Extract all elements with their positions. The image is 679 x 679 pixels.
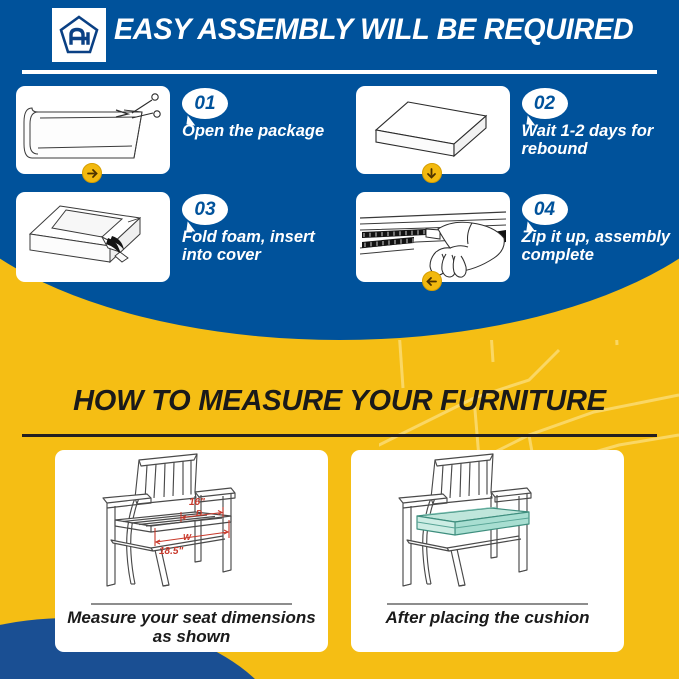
header-divider	[22, 70, 657, 74]
step-03-badge: 03	[182, 194, 228, 225]
step-02-badge: 02	[522, 88, 568, 119]
step-04-label: Zip it up, assembly complete	[522, 229, 679, 265]
card-2-caption: After placing the cushion	[351, 608, 624, 627]
step-04: 04 Zip it up, assembly complete	[340, 192, 679, 282]
step-02-label: Wait 1-2 days for rebound	[522, 123, 679, 159]
brand-logo	[52, 8, 106, 62]
step-01-arrow-chip	[82, 163, 102, 183]
step-02-text: 02 Wait 1-2 days for rebound	[510, 86, 679, 159]
flat-foam-slab-icon	[356, 86, 510, 174]
card-1-caption: Measure your seat dimensions as shown	[55, 608, 328, 646]
arrow-left-icon	[426, 276, 437, 287]
step-04-figure	[356, 192, 510, 282]
step-04-badge: 04	[522, 194, 568, 225]
step-02-figure	[356, 86, 510, 174]
arrow-right-icon	[87, 168, 98, 179]
header: EASY ASSEMBLY WILL BE REQUIRED	[0, 0, 679, 80]
step-01: 01 Open the package	[0, 86, 340, 174]
step-01-text: 01 Open the package	[170, 86, 324, 141]
step-row-bottom: 03 Fold foam, insert into cover	[0, 192, 679, 300]
step-02: 02 Wait 1-2 days for rebound	[340, 86, 679, 174]
page-title: EASY ASSEMBLY WILL BE REQUIRED	[114, 13, 633, 47]
depth-dimension-value: 16"	[189, 497, 205, 508]
width-dimension-value: 18.5"	[159, 546, 183, 557]
depth-axis-label: D	[196, 508, 202, 518]
step-03-label: Fold foam, insert into cover	[182, 229, 340, 265]
assembly-steps: 01 Open the package	[0, 86, 679, 300]
card-1-separator	[91, 603, 292, 605]
patio-chair-with-cushion-icon	[351, 450, 624, 602]
step-01-label: Open the package	[182, 123, 324, 141]
measure-cards: 16" D W 18.5" Measure your seat dimensio…	[0, 450, 679, 652]
measure-card-dimensions: 16" D W 18.5" Measure your seat dimensio…	[55, 450, 328, 652]
step-04-arrow-chip	[422, 271, 442, 291]
patio-chair-with-dimensions-icon: 16" D W 18.5"	[55, 450, 328, 602]
measure-section-title: HOW TO MEASURE YOUR FURNITURE	[0, 385, 679, 418]
measure-card-with-cushion: After placing the cushion	[351, 450, 624, 652]
measure-section-divider	[22, 434, 657, 437]
width-axis-label: W	[183, 532, 192, 542]
step-03-figure	[16, 192, 170, 282]
step-row-top: 01 Open the package	[0, 86, 679, 192]
step-01-badge: 01	[182, 88, 228, 119]
foam-into-cover-icon	[16, 192, 170, 282]
step-02-arrow-chip	[422, 163, 442, 183]
hand-zipping-zipper-icon	[356, 192, 510, 282]
rolled-package-with-scissors-icon	[16, 86, 170, 174]
card-2-separator	[387, 603, 588, 605]
house-pentagon-logo-icon	[57, 13, 101, 57]
arrow-down-icon	[426, 168, 437, 179]
step-04-text: 04 Zip it up, assembly complete	[510, 192, 679, 265]
step-03: 03 Fold foam, insert into cover	[0, 192, 340, 282]
step-03-text: 03 Fold foam, insert into cover	[170, 192, 340, 265]
infographic-poster: EASY ASSEMBLY WILL BE REQUIRED	[0, 0, 679, 679]
step-01-figure	[16, 86, 170, 174]
